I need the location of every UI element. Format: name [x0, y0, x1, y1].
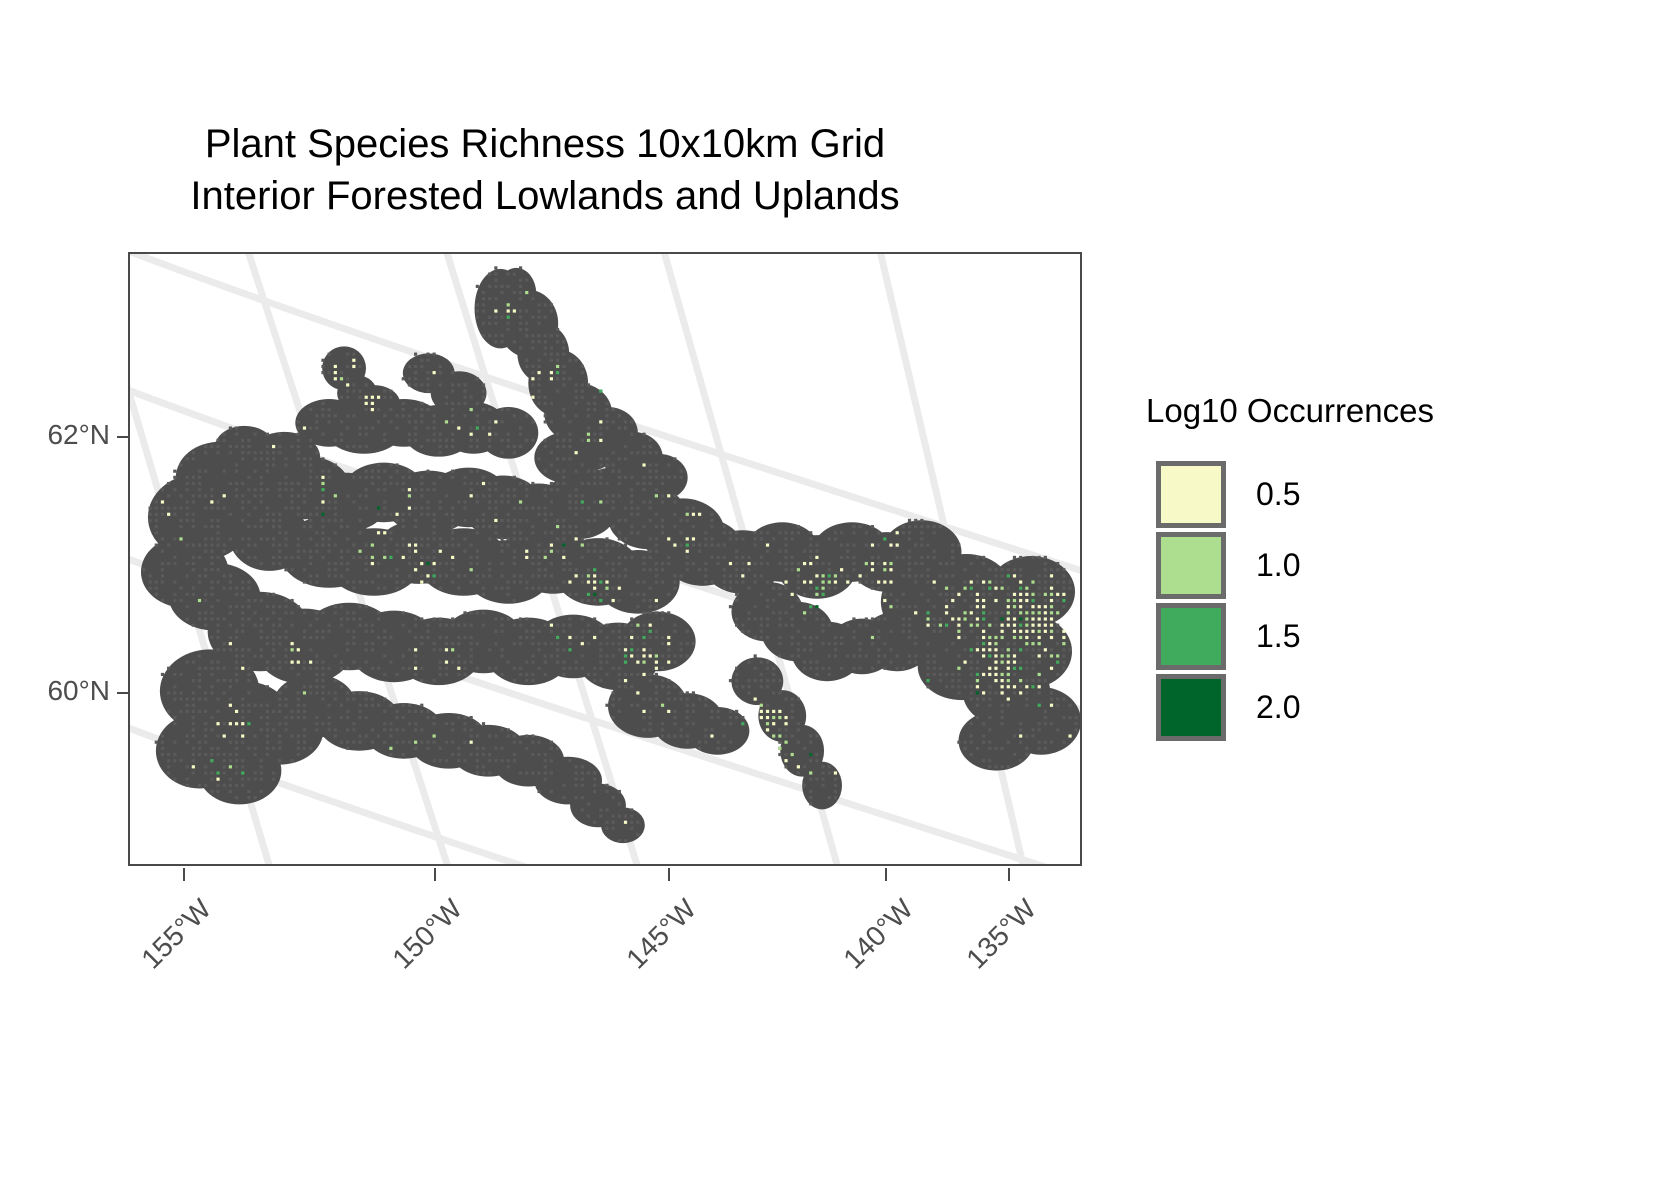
- grid-cell: [784, 722, 787, 725]
- grid-cell: [988, 580, 991, 583]
- grid-cell: [976, 679, 979, 682]
- grid-cell: [982, 642, 985, 645]
- grid-cell: [741, 722, 744, 725]
- grid-cell: [1038, 654, 1041, 657]
- grid-cell: [537, 371, 540, 374]
- grid-cell: [803, 611, 806, 614]
- grid-cell: [809, 771, 812, 774]
- grid-cell: [321, 488, 324, 491]
- grid-cell: [1062, 593, 1065, 596]
- grid-cell: [963, 617, 966, 620]
- grid-cell: [636, 691, 639, 694]
- grid-cell: [766, 716, 769, 719]
- grid-cell: [593, 568, 596, 571]
- grid-cell: [1056, 661, 1059, 664]
- grid-cell: [883, 580, 886, 583]
- chart-title: Plant Species Richness 10x10km Grid Inte…: [0, 118, 1090, 222]
- grid-cell: [550, 624, 553, 627]
- grid-cell: [970, 587, 973, 590]
- grid-cell: [994, 599, 997, 602]
- grid-cell: [587, 574, 590, 577]
- grid-cell: [1062, 636, 1065, 639]
- grid-cell: [1001, 654, 1004, 657]
- grid-cell: [1007, 685, 1010, 688]
- grid-cell: [988, 642, 991, 645]
- grid-cell: [451, 648, 454, 651]
- grid-cell: [575, 451, 578, 454]
- grid-cell: [988, 636, 991, 639]
- grid-cell: [809, 562, 812, 565]
- grid-cell: [889, 562, 892, 565]
- grid-cell: [791, 593, 794, 596]
- grid-cell: [766, 722, 769, 725]
- grid-cell: [642, 710, 645, 713]
- grid-cell: [1007, 611, 1010, 614]
- grid-cell: [933, 580, 936, 583]
- grid-cell: [161, 500, 164, 503]
- grid-cell: [1031, 580, 1034, 583]
- grid-cell: [414, 544, 417, 547]
- grid-cell: [340, 377, 343, 380]
- grid-cell: [1007, 697, 1010, 700]
- grid-cell: [667, 494, 670, 497]
- grid-cell: [809, 753, 812, 756]
- grid-cell: [414, 550, 417, 553]
- grid-cell: [821, 580, 824, 583]
- grid-cell: [809, 580, 812, 583]
- grid-cell: [970, 580, 973, 583]
- grid-cell: [994, 587, 997, 590]
- grid-cell: [303, 426, 306, 429]
- grid-cell: [760, 716, 763, 719]
- grid-cell: [593, 636, 596, 639]
- grid-cell: [834, 580, 837, 583]
- grid-cell: [297, 661, 300, 664]
- grid-cell: [179, 537, 182, 540]
- grid-cell: [871, 544, 874, 547]
- y-tick-mark-0: [117, 436, 128, 438]
- grid-cell: [667, 642, 670, 645]
- legend-swatch: [1156, 461, 1226, 528]
- grid-cell: [649, 630, 652, 633]
- grid-cell: [667, 537, 670, 540]
- grid-cell: [636, 661, 639, 664]
- grid-cell: [476, 426, 479, 429]
- grid-cell: [624, 648, 627, 651]
- grid-cell: [1019, 617, 1022, 620]
- grid-cell: [371, 396, 374, 399]
- grid-cell: [766, 544, 769, 547]
- grid-cell: [1013, 617, 1016, 620]
- grid-cell: [334, 377, 337, 380]
- grid-cell: [982, 605, 985, 608]
- grid-cell: [457, 426, 460, 429]
- grid-cell: [963, 611, 966, 614]
- grid-cell: [556, 371, 559, 374]
- grid-cell: [957, 630, 960, 633]
- legend-swatch: [1156, 674, 1226, 741]
- grid-cell: [1001, 679, 1004, 682]
- grid-cell: [784, 580, 787, 583]
- legend-row: 0.5: [1156, 459, 1300, 530]
- grid-cell: [1038, 685, 1041, 688]
- grid-cell: [1038, 673, 1041, 676]
- grid-cell: [1007, 667, 1010, 670]
- grid-cell: [1056, 611, 1059, 614]
- grid-cell: [371, 562, 374, 565]
- grid-cell: [624, 821, 627, 824]
- grid-cell: [494, 420, 497, 423]
- grid-cell: [994, 661, 997, 664]
- grid-cell: [1025, 624, 1028, 627]
- grid-cell: [747, 562, 750, 565]
- grid-cell: [1031, 685, 1034, 688]
- grid-cell: [420, 562, 423, 565]
- grid-cell: [1056, 593, 1059, 596]
- grid-cell: [784, 716, 787, 719]
- grid-cell: [1019, 593, 1022, 596]
- legend-row: 1.5: [1156, 601, 1300, 672]
- grid-cell: [309, 661, 312, 664]
- grid-cell: [562, 544, 565, 547]
- grid-cell: [1019, 580, 1022, 583]
- x-tick-label-2: 145°W: [588, 893, 703, 1008]
- grid-cell: [655, 661, 658, 664]
- grid-cell: [568, 636, 571, 639]
- grid-cell: [383, 556, 386, 559]
- grid-cell: [241, 771, 244, 774]
- grid-cell: [926, 611, 929, 614]
- grid-cell: [1038, 624, 1041, 627]
- grid-cell: [642, 673, 645, 676]
- grid-cell: [926, 624, 929, 627]
- grid-cell: [229, 704, 232, 707]
- grid-cell: [976, 673, 979, 676]
- grid-cell: [402, 556, 405, 559]
- grid-cell: [568, 648, 571, 651]
- grid-cell: [241, 734, 244, 737]
- grid-cell: [1007, 599, 1010, 602]
- grid-cell: [1013, 574, 1016, 577]
- grid-cell: [815, 556, 818, 559]
- grid-cell: [970, 624, 973, 627]
- grid-cell: [846, 580, 849, 583]
- legend-label: 1.0: [1256, 547, 1300, 584]
- x-tick-mark-2: [668, 868, 670, 881]
- grid-cell: [321, 482, 324, 485]
- grid-cell: [507, 303, 510, 306]
- grid-cell: [556, 636, 559, 639]
- grid-cell: [772, 710, 775, 713]
- grid-cell: [507, 316, 510, 319]
- grid-cell: [445, 661, 448, 664]
- grid-cell: [791, 753, 794, 756]
- grid-cell: [377, 507, 380, 510]
- grid-cell: [1019, 605, 1022, 608]
- grid-cell: [803, 562, 806, 565]
- grid-cell: [926, 679, 929, 682]
- grid-cell: [642, 636, 645, 639]
- grid-cell: [297, 648, 300, 651]
- x-tick-label-0: 155°W: [103, 893, 218, 1008]
- grid-cell: [710, 734, 713, 737]
- grid-cell: [1050, 654, 1053, 657]
- grid-cell: [889, 544, 892, 547]
- grid-cell: [642, 463, 645, 466]
- grid-cell: [593, 580, 596, 583]
- grid-cell: [1050, 704, 1053, 707]
- grid-cell: [371, 544, 374, 547]
- grid-cell: [1013, 624, 1016, 627]
- grid-cell: [883, 562, 886, 565]
- grid-cell: [976, 599, 979, 602]
- grid-cell: [982, 673, 985, 676]
- grid-cell: [1025, 617, 1028, 620]
- grid-cell: [223, 734, 226, 737]
- grid-cell: [229, 642, 232, 645]
- grid-cell: [951, 617, 954, 620]
- grid-cell: [642, 654, 645, 657]
- x-tick-mark-3: [885, 868, 887, 881]
- grid-cell: [605, 587, 608, 590]
- grid-cell: [358, 550, 361, 553]
- grid-cell: [828, 580, 831, 583]
- grid-cell: [649, 654, 652, 657]
- x-tick-label-3: 140°W: [805, 893, 920, 1008]
- title-line-1: Plant Species Richness 10x10km Grid: [0, 118, 1090, 170]
- grid-cell: [871, 636, 874, 639]
- grid-cell: [994, 667, 997, 670]
- grid-cell: [1019, 630, 1022, 633]
- grid-cell: [1031, 593, 1034, 596]
- grid-cell: [1007, 648, 1010, 651]
- grid-cell: [945, 624, 948, 627]
- grid-cell: [988, 587, 991, 590]
- grid-cell: [988, 624, 991, 627]
- grid-cell: [778, 734, 781, 737]
- graticule-meridian: [1076, 254, 1080, 864]
- grid-cell: [970, 648, 973, 651]
- grid-cell: [334, 494, 337, 497]
- grid-cell: [988, 673, 991, 676]
- grid-cell: [686, 513, 689, 516]
- grid-cell: [531, 396, 534, 399]
- grid-cell: [470, 433, 473, 436]
- grid-cell: [797, 765, 800, 768]
- grid-cell: [247, 722, 250, 725]
- grid-cell: [1050, 636, 1053, 639]
- grid-cell: [1031, 642, 1034, 645]
- grid-cell: [599, 390, 602, 393]
- grid-cell: [982, 580, 985, 583]
- grid-cell: [229, 765, 232, 768]
- grid-cell: [494, 519, 497, 522]
- grid-cell: [1038, 611, 1041, 614]
- grid-cell: [655, 667, 658, 670]
- grid-cell: [772, 734, 775, 737]
- grid-cell: [939, 624, 942, 627]
- grid-cell: [531, 377, 534, 380]
- grid-cell: [815, 587, 818, 590]
- grid-cell: [667, 636, 670, 639]
- y-tick-label-1: 60°N: [10, 675, 110, 707]
- grid-cell: [556, 365, 559, 368]
- grid-cell: [618, 587, 621, 590]
- grid-cell: [624, 654, 627, 657]
- grid-cell: [982, 648, 985, 651]
- grid-cell: [408, 507, 411, 510]
- grid-cell: [587, 439, 590, 442]
- grid-cell: [1001, 636, 1004, 639]
- grid-cell: [914, 611, 917, 614]
- grid-cell: [1062, 599, 1065, 602]
- grid-cell: [784, 759, 787, 762]
- grid-cell: [889, 568, 892, 571]
- grid-cell: [963, 661, 966, 664]
- legend-entries: 0.51.01.52.0: [1156, 459, 1300, 743]
- grid-cell: [272, 445, 275, 448]
- grid-cell: [994, 648, 997, 651]
- grid-cell: [599, 439, 602, 442]
- grid-cell: [976, 617, 979, 620]
- grid-cell: [1013, 599, 1016, 602]
- grid-cell: [445, 648, 448, 651]
- grid-cell: [1050, 587, 1053, 590]
- grid-cell: [1001, 673, 1004, 676]
- grid-cell: [525, 550, 528, 553]
- grid-cell: [439, 550, 442, 553]
- grid-cell: [815, 605, 818, 608]
- grid-cell: [976, 691, 979, 694]
- grid-cell: [896, 544, 899, 547]
- grid-cell: [630, 636, 633, 639]
- grid-cell: [988, 654, 991, 657]
- grid-cell: [772, 716, 775, 719]
- grid-cell: [408, 494, 411, 497]
- grid-cell: [667, 710, 670, 713]
- grid-cell: [575, 574, 578, 577]
- grid-cell: [982, 691, 985, 694]
- grid-cell: [957, 624, 960, 627]
- x-tick-label-1: 150°W: [354, 893, 469, 1008]
- grid-cell: [321, 476, 324, 479]
- grid-cell: [371, 556, 374, 559]
- grid-cell: [1062, 642, 1065, 645]
- grid-cell: [389, 556, 392, 559]
- grid-cell: [1050, 605, 1053, 608]
- grid-cell: [778, 747, 781, 750]
- grid-cell: [994, 673, 997, 676]
- grid-cell: [1050, 599, 1053, 602]
- grid-cell: [1007, 574, 1010, 577]
- grid-cell: [797, 568, 800, 571]
- grid-cell: [642, 661, 645, 664]
- grid-cell: [926, 617, 929, 620]
- grid-cell: [957, 593, 960, 596]
- grid-cell: [371, 402, 374, 405]
- grid-cell: [352, 359, 355, 362]
- grid-cell: [760, 704, 763, 707]
- y-tick-label-0: 62°N: [10, 419, 110, 451]
- grid-cell: [216, 771, 219, 774]
- grid-cell: [1038, 630, 1041, 633]
- grid-cell: [457, 667, 460, 670]
- grid-cell: [1019, 611, 1022, 614]
- grid-cell: [433, 734, 436, 737]
- grid-cell: [1050, 574, 1053, 577]
- grid-cell: [1019, 734, 1022, 737]
- grid-cell: [754, 697, 757, 700]
- grid-cell: [982, 654, 985, 657]
- grid-cell: [229, 722, 232, 725]
- grid-cell: [994, 642, 997, 645]
- grid-cell: [1031, 617, 1034, 620]
- grid-cell: [834, 771, 837, 774]
- grid-cell: [1044, 617, 1047, 620]
- grid-cell: [1056, 654, 1059, 657]
- grid-cell: [766, 728, 769, 731]
- grid-cell: [871, 562, 874, 565]
- grid-cell: [642, 648, 645, 651]
- grid-cell: [303, 691, 306, 694]
- grid-cell: [1001, 624, 1004, 627]
- grid-cell: [1007, 624, 1010, 627]
- grid-cell: [1007, 673, 1010, 676]
- grid-cell: [1025, 685, 1028, 688]
- grid-cell: [1025, 587, 1028, 590]
- grid-cell: [581, 500, 584, 503]
- grid-cell: [1025, 611, 1028, 614]
- grid-cell: [383, 531, 386, 534]
- grid-cell: [235, 710, 238, 713]
- grid-cell: [815, 574, 818, 577]
- legend-row: 1.0: [1156, 530, 1300, 601]
- grid-cell: [630, 654, 633, 657]
- grid-cell: [686, 550, 689, 553]
- grid-cell: [605, 580, 608, 583]
- grid-cell: [241, 667, 244, 670]
- grid-cell: [803, 580, 806, 583]
- grid-cell: [686, 544, 689, 547]
- grid-cell: [778, 710, 781, 713]
- grid-cell: [414, 648, 417, 651]
- grid-cell: [1044, 648, 1047, 651]
- grid-cell: [587, 433, 590, 436]
- grid-cell: [994, 654, 997, 657]
- grid-cell: [550, 550, 553, 553]
- grid-cell: [963, 587, 966, 590]
- grid-cell: [994, 679, 997, 682]
- figure-root: Plant Species Richness 10x10km Grid Inte…: [0, 0, 1653, 1181]
- grid-cell: [1013, 685, 1016, 688]
- grid-cell: [994, 636, 997, 639]
- grid-cell: [291, 648, 294, 651]
- grid-cell: [951, 599, 954, 602]
- grid-cell: [778, 716, 781, 719]
- grid-cell: [433, 574, 436, 577]
- grid-cell: [982, 630, 985, 633]
- grid-cell: [599, 580, 602, 583]
- grid-cell: [513, 309, 516, 312]
- grid-cell: [1031, 624, 1034, 627]
- grid-cell: [1013, 636, 1016, 639]
- grid-cell: [1013, 605, 1016, 608]
- legend-label: 2.0: [1256, 689, 1300, 726]
- grid-cell: [223, 494, 226, 497]
- grid-cell: [420, 580, 423, 583]
- legend-label: 1.5: [1256, 618, 1300, 655]
- grid-cell: [216, 778, 219, 781]
